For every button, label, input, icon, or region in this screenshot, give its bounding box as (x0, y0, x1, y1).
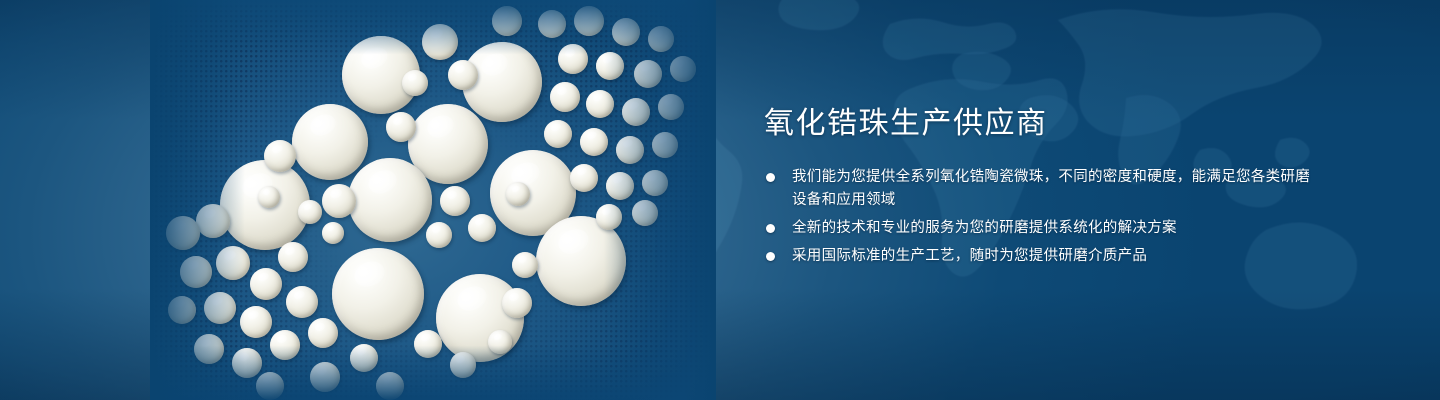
list-item-text: 采用国际标准的生产工艺，随时为您提供研磨介质产品 (792, 245, 1324, 268)
list-item: 我们能为您提供全系列氧化锆陶瓷微珠，不同的密度和硬度，能满足您各类研磨设备和应用… (764, 166, 1324, 212)
page-title: 氧化锆珠生产供应商 (764, 104, 1324, 144)
hero-banner: 氧化锆珠生产供应商 我们能为您提供全系列氧化锆陶瓷微珠，不同的密度和硬度，能满足… (0, 0, 1440, 400)
bullet-dot-icon (766, 252, 775, 261)
bullet-dot-icon (766, 173, 775, 182)
list-item-text: 我们能为您提供全系列氧化锆陶瓷微珠，不同的密度和硬度，能满足您各类研磨设备和应用… (792, 166, 1324, 212)
list-item: 全新的技术和专业的服务为您的研磨提供系统化的解决方案 (764, 217, 1324, 240)
list-item-text: 全新的技术和专业的服务为您的研磨提供系统化的解决方案 (792, 217, 1324, 240)
bullet-dot-icon (766, 224, 775, 233)
banner-copy: 氧化锆珠生产供应商 我们能为您提供全系列氧化锆陶瓷微珠，不同的密度和硬度，能满足… (764, 104, 1324, 268)
list-item: 采用国际标准的生产工艺，随时为您提供研磨介质产品 (764, 245, 1324, 268)
feature-list: 我们能为您提供全系列氧化锆陶瓷微珠，不同的密度和硬度，能满足您各类研磨设备和应用… (764, 166, 1324, 268)
